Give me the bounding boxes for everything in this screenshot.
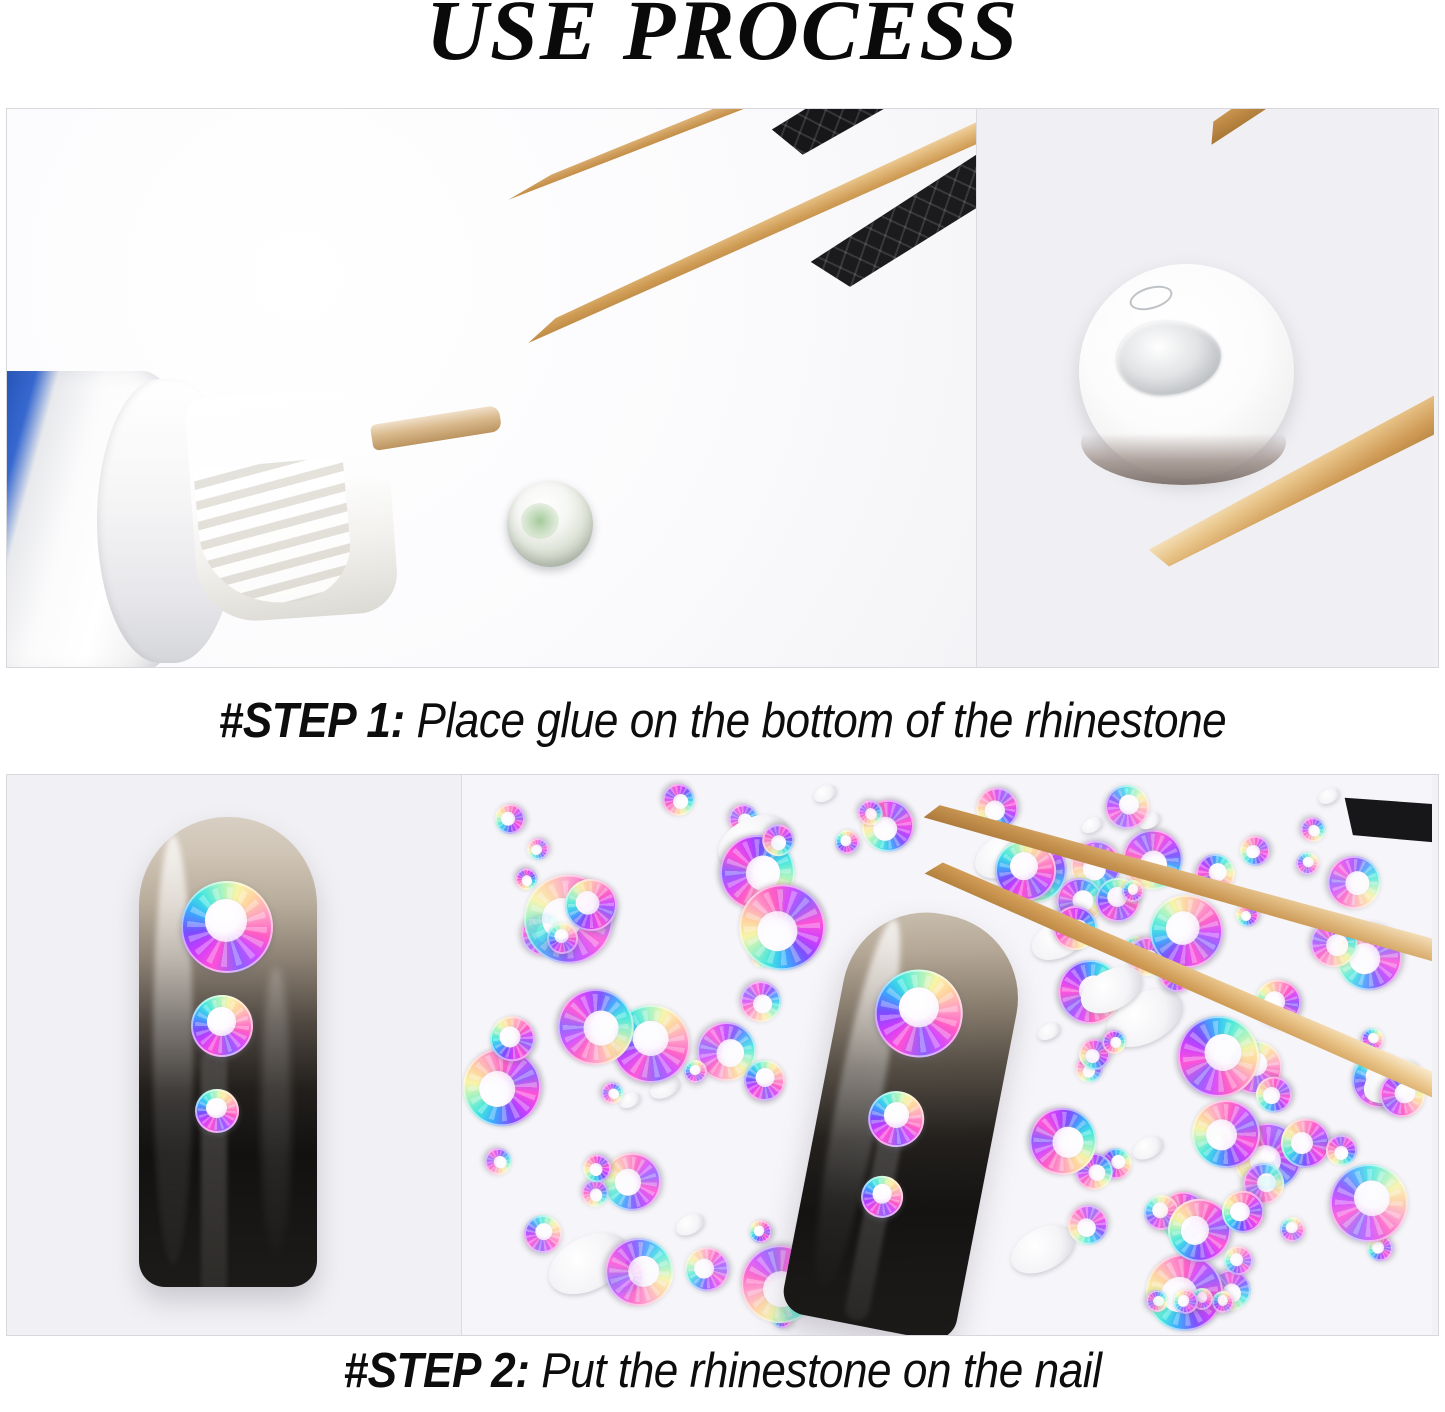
rhinestone xyxy=(1121,879,1144,902)
finished-nail-photo xyxy=(7,775,461,1335)
page-title: USE PROCESS xyxy=(426,0,1019,72)
step-2-label: #STEP 2: xyxy=(344,1344,530,1398)
rhinestone-flat-back xyxy=(1080,814,1105,836)
rhinestone xyxy=(1295,812,1331,848)
rhinestone-flat-back xyxy=(1317,785,1341,807)
rhinestone xyxy=(1314,1148,1424,1258)
rhinestone xyxy=(480,1143,517,1180)
rhinestone xyxy=(1320,848,1388,916)
rhinestone xyxy=(1292,848,1323,879)
rhinestone xyxy=(745,1216,775,1246)
rhinestone xyxy=(1096,776,1158,838)
rhinestone-flat-back xyxy=(1036,1020,1062,1043)
rhinestone-flat-back xyxy=(673,1209,706,1239)
step-2-description: Put the rhinestone on the nail xyxy=(529,1344,1101,1398)
rhinestone-edge-shadow xyxy=(1081,399,1286,485)
tweezer-tip-upper xyxy=(1179,109,1434,145)
ombre-nail xyxy=(139,817,317,1287)
page-header: USE PROCESS xyxy=(0,0,1445,108)
rhinestone xyxy=(657,778,702,823)
step-1-description: Place glue on the bottom of the rhinesto… xyxy=(405,694,1227,748)
glue-application-photo xyxy=(7,109,976,667)
rhinestone xyxy=(1279,1216,1307,1244)
rhinestone xyxy=(1238,834,1273,869)
step-1-caption: #STEP 1: Place glue on the bottom of the… xyxy=(72,668,1373,774)
rhinestone xyxy=(831,826,863,858)
nail-gloss-streak xyxy=(201,1049,227,1287)
step-1-image-row xyxy=(6,108,1439,668)
rhinestone-held xyxy=(507,481,593,567)
rhinestone-flat-back xyxy=(1130,1132,1165,1164)
rhinestone xyxy=(732,973,790,1031)
rhinestone xyxy=(680,1242,734,1296)
glue-bottle-tip xyxy=(370,405,502,451)
rhinestone-flat-back xyxy=(812,781,838,805)
rhinestone-glue-closeup-photo xyxy=(976,109,1434,667)
nail-highlight-secondary xyxy=(261,967,291,1267)
rhinestone-large xyxy=(181,881,273,973)
rhinestone xyxy=(604,1237,673,1306)
nail-highlight xyxy=(153,835,193,1265)
step-2-image-row xyxy=(6,774,1439,1336)
rhinestone xyxy=(523,834,553,864)
step-1-label: #STEP 1: xyxy=(219,694,405,748)
rhinestone-medium xyxy=(191,995,253,1057)
rhinestone-small xyxy=(195,1089,239,1133)
step-2-caption: #STEP 2: Put the rhinestone on the nail xyxy=(72,1336,1373,1398)
rhinestone-placement-photo xyxy=(461,775,1432,1335)
rhinestone xyxy=(493,802,526,835)
rhinestone xyxy=(603,1153,662,1212)
glue-bottle-icon xyxy=(7,371,447,667)
